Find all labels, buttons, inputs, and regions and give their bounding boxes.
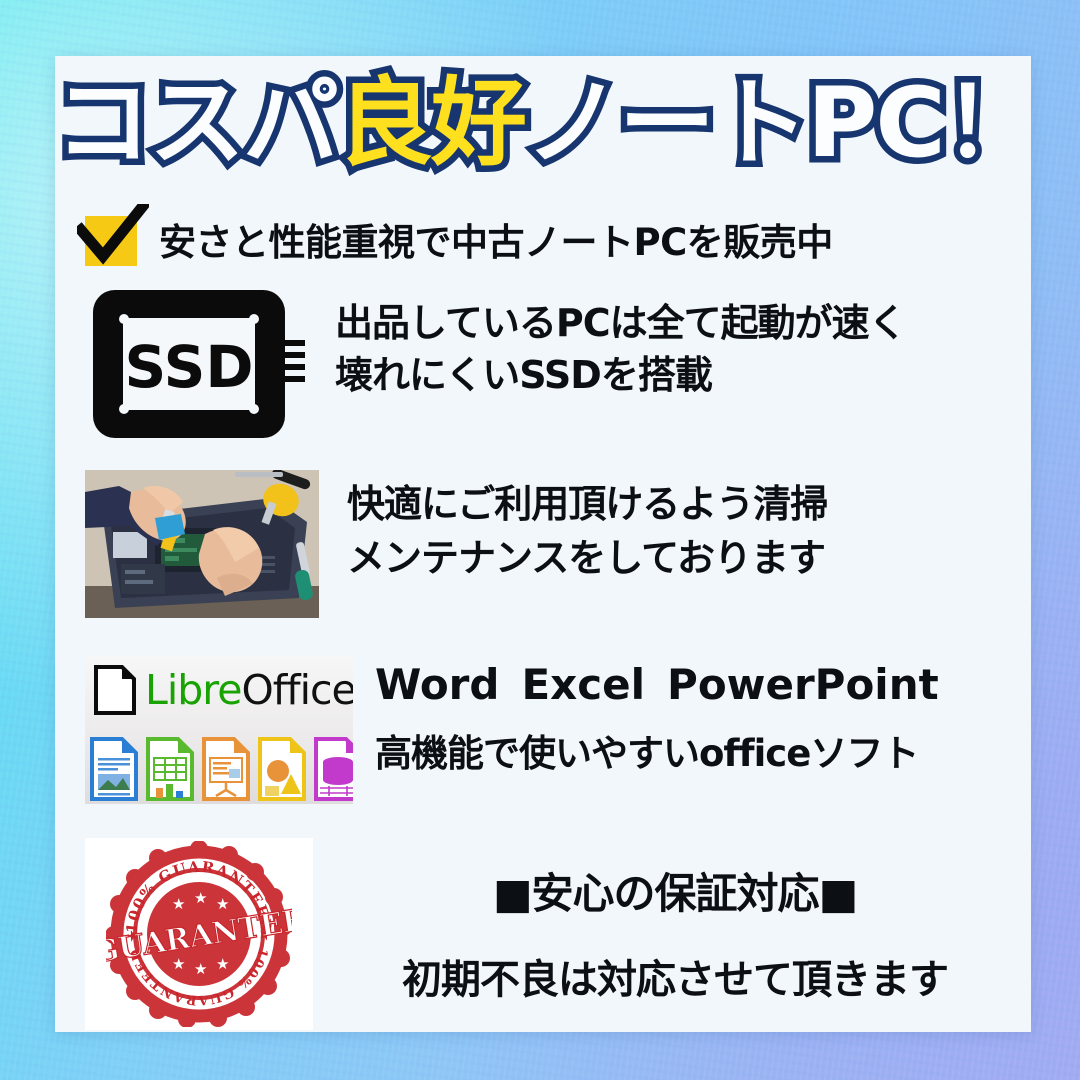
title-part-2: 良好	[337, 67, 525, 179]
feature-row-check: 安さと性能重視で中古ノートPCを販売中	[77, 208, 1017, 270]
feature-row-guarantee: ★ 100% GUARANTEED ★ ★ 100% GUARANTEED ★ …	[85, 838, 1025, 1030]
check-mark-icon	[77, 204, 149, 270]
title-part-1: コスパ	[55, 67, 337, 179]
libreoffice-base-icon	[313, 736, 353, 802]
promo-card: コスパ良好ノートPC！ 安さと性能重視で中古ノートPCを販売中	[55, 56, 1031, 1032]
checkbox-icon	[77, 208, 149, 270]
svg-text:★: ★	[216, 955, 229, 973]
office-text-block: WordExcelPowerPoint 高機能で使いやすいofficeソフト	[375, 656, 939, 804]
svg-text:★: ★	[172, 895, 185, 913]
laptop-repair-photo	[85, 470, 319, 618]
title-part-3: ノートPC！	[525, 67, 1038, 179]
feature-maintenance-text: 快適にご利用頂けるよう清掃 メンテナンスをしております	[347, 470, 827, 618]
svg-text:★: ★	[216, 895, 229, 913]
guarantee-title: ■安心の保証対応■	[325, 860, 1025, 921]
office-app-word: Word	[375, 660, 499, 709]
page-title: コスパ良好ノートPC！	[55, 72, 1031, 176]
svg-text:★: ★	[194, 889, 207, 907]
feature-ssd-text: 出品しているPCは全て起動が速く 壊れにくいSSDを搭載	[335, 284, 906, 444]
libreoffice-calc-icon	[145, 736, 195, 802]
libreoffice-impress-icon	[201, 736, 251, 802]
libreoffice-logo-office: Office	[241, 666, 353, 714]
guarantee-text-block: ■安心の保証対応■ 初期不良は対応させて頂きます	[325, 838, 1025, 1030]
libreoffice-draw-icon	[257, 736, 307, 802]
guarantee-subtitle: 初期不良は対応させて頂きます	[325, 947, 1025, 1005]
libreoffice-logo-libre: Libre	[145, 666, 241, 714]
feature-maintenance-line1: 快適にご利用頂けるよう清掃	[347, 478, 827, 532]
office-subtitle: 高機能で使いやすいofficeソフト	[375, 723, 939, 777]
libreoffice-logo: LibreOffice	[85, 656, 353, 804]
office-apps-list: WordExcelPowerPoint	[375, 660, 939, 709]
libreoffice-modules	[89, 736, 353, 802]
feature-ssd-line2: 壊れにくいSSDを搭載	[335, 350, 906, 402]
feature-row-office: LibreOffice	[85, 656, 1025, 804]
ssd-drive-icon: SSD	[83, 284, 313, 444]
svg-text:★: ★	[194, 960, 207, 978]
feature-check-text: 安さと性能重視で中古ノートPCを販売中	[159, 212, 833, 266]
libreoffice-document-icon	[93, 664, 137, 716]
feature-row-ssd: SSD 出品しているPCは全て起動が速く 壊れにくいSSDを搭載	[83, 284, 1023, 444]
ssd-icon-label: SSD	[124, 333, 253, 401]
office-app-powerpoint: PowerPoint	[667, 660, 939, 709]
feature-ssd-line1: 出品しているPCは全て起動が速く	[335, 298, 906, 350]
feature-row-maintenance: 快適にご利用頂けるよう清掃 メンテナンスをしております	[85, 470, 1025, 618]
guarantee-stamp: ★ 100% GUARANTEED ★ ★ 100% GUARANTEED ★ …	[85, 838, 313, 1030]
libreoffice-writer-icon	[89, 736, 139, 802]
office-app-excel: Excel	[521, 660, 645, 709]
feature-maintenance-line2: メンテナンスをしております	[347, 532, 827, 586]
